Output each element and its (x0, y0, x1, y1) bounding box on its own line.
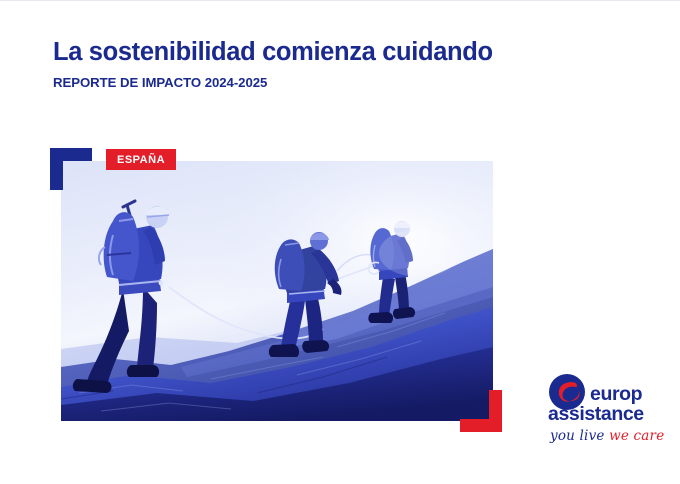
logo-word-europ: europ (590, 385, 642, 405)
header: La sostenibilidad comienza cuidando REPO… (53, 39, 633, 90)
status-badge-espana: ESPAÑA (106, 149, 176, 170)
logo-tagline: you live we care (550, 428, 664, 444)
corner-bracket-icon (460, 390, 502, 432)
logo-tagline-part-1: you live (550, 428, 609, 444)
report-cover-page: La sostenibilidad comienza cuidando REPO… (0, 0, 680, 484)
corner-bracket-top-left (50, 148, 92, 190)
logo-word-assistance: assistance (548, 405, 644, 425)
page-title: La sostenibilidad comienza cuidando (53, 39, 633, 67)
brand-logo: europ assistance you live we care (548, 371, 663, 449)
logo-wordmark: europ assistance you live we care (548, 371, 663, 449)
page-subtitle: REPORTE DE IMPACTO 2024-2025 (53, 75, 633, 90)
corner-bracket-icon (50, 148, 92, 190)
hero-image (61, 161, 493, 421)
mountain-climbers-photo (61, 161, 493, 421)
corner-bracket-bottom-right (460, 390, 502, 432)
logo-tagline-part-2: we care (609, 428, 664, 444)
